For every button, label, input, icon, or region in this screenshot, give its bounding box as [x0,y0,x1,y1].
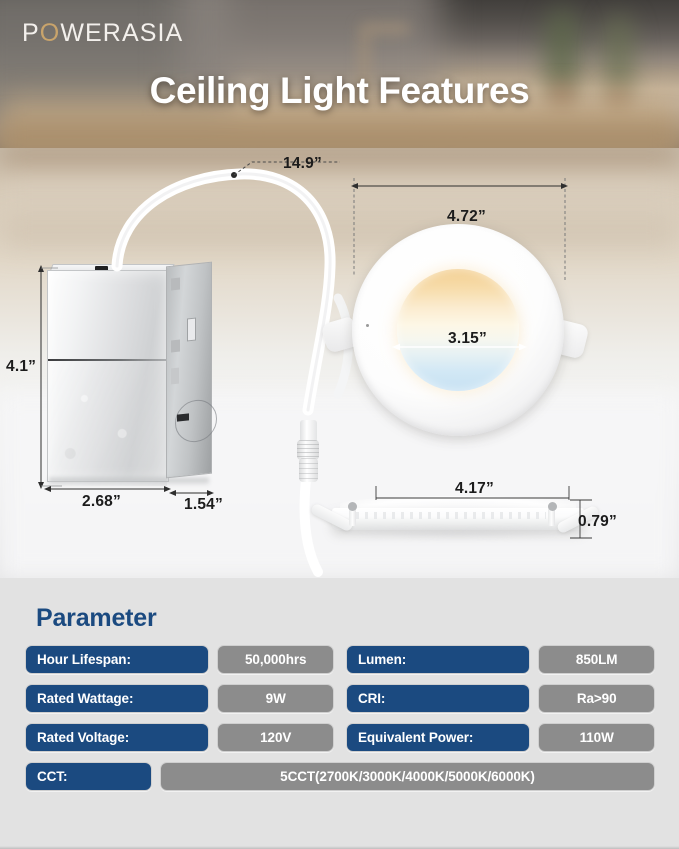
dimension-label-lens-diameter: 3.15” [448,330,487,348]
param-value-cct: 5CCT(2700K/3000K/4000K/5000K/6000K) [160,762,655,791]
param-value-rated-wattage: 9W [217,684,334,713]
background-faucet-spout [366,24,410,33]
param-key-equivalent-power: Equivalent Power: [346,723,530,752]
dimension-label-box-width: 2.68” [82,493,121,511]
junction-box-tab-lower [171,368,179,385]
brand-logo-text: POWERASIA [22,19,183,47]
param-key-cct: CCT: [25,762,152,791]
dimension-label-outer-diameter: 4.72” [447,208,486,226]
side-view-pivot-left [348,502,357,511]
table-row: Rated Voltage: 120V Equivalent Power: 11… [25,723,655,752]
dimension-label-box-height: 4.1” [6,358,36,376]
product-diagram-photo: 14.9” 4.1” 2.68” 1.54” 4.72” 3.15” 4.17”… [0,148,679,578]
junction-box-tab-top [171,278,180,291]
connector-ribbed-collar [297,440,319,460]
junction-box-galvanized-texture [49,361,167,486]
side-view-pivot-right [548,502,557,511]
brand-logo: POWERASIA [22,19,183,48]
junction-box-tab-mid [171,340,180,353]
parameter-section: Parameter Hour Lifespan: 50,000hrs Lumen… [0,578,679,849]
page-title: Ceiling Light Features [0,70,679,112]
product-feature-infographic: POWERASIA Ceiling Light Features [0,0,679,849]
dimension-label-thickness: 0.79” [578,513,617,531]
junction-box-vent-slot [187,318,196,342]
param-key-rated-wattage: Rated Wattage: [25,684,209,713]
background-counter [0,122,679,148]
brand-logo-accent-letter: O [40,19,61,47]
param-key-cri: CRI: [346,684,530,713]
header-banner: POWERASIA Ceiling Light Features [0,0,679,148]
junction-box-knockout-notch [177,413,189,421]
junction-box-front-panel [47,270,169,482]
dimension-label-box-depth: 1.54” [184,496,223,514]
fixture-trim-marker [366,324,369,327]
quick-connector [296,420,320,486]
table-row: Rated Wattage: 9W CRI: Ra>90 [25,684,655,713]
param-value-cri: Ra>90 [538,684,655,713]
param-key-rated-voltage: Rated Voltage: [25,723,209,752]
parameter-table: Hour Lifespan: 50,000hrs Lumen: 850LM Ra… [25,645,655,801]
dimension-label-cutout-width: 4.17” [455,480,494,498]
junction-box [47,264,215,486]
table-row-wide: CCT: 5CCT(2700K/3000K/4000K/5000K/6000K) [25,762,655,791]
param-value-equivalent-power: 110W [538,723,655,752]
junction-box-shadow [49,478,209,486]
parameter-section-title: Parameter [36,604,157,633]
param-value-lumen: 850LM [538,645,655,674]
param-key-hour-lifespan: Hour Lifespan: [25,645,209,674]
photo-background-strip [0,220,679,246]
dimension-label-cable-length: 14.9” [283,155,322,173]
param-value-hour-lifespan: 50,000hrs [217,645,334,674]
side-view-reflection [346,530,570,539]
table-row: Hour Lifespan: 50,000hrs Lumen: 850LM [25,645,655,674]
side-view-led-strip [356,512,546,519]
param-key-lumen: Lumen: [346,645,530,674]
connector-barrel-top [300,420,317,442]
param-value-rated-voltage: 120V [217,723,334,752]
